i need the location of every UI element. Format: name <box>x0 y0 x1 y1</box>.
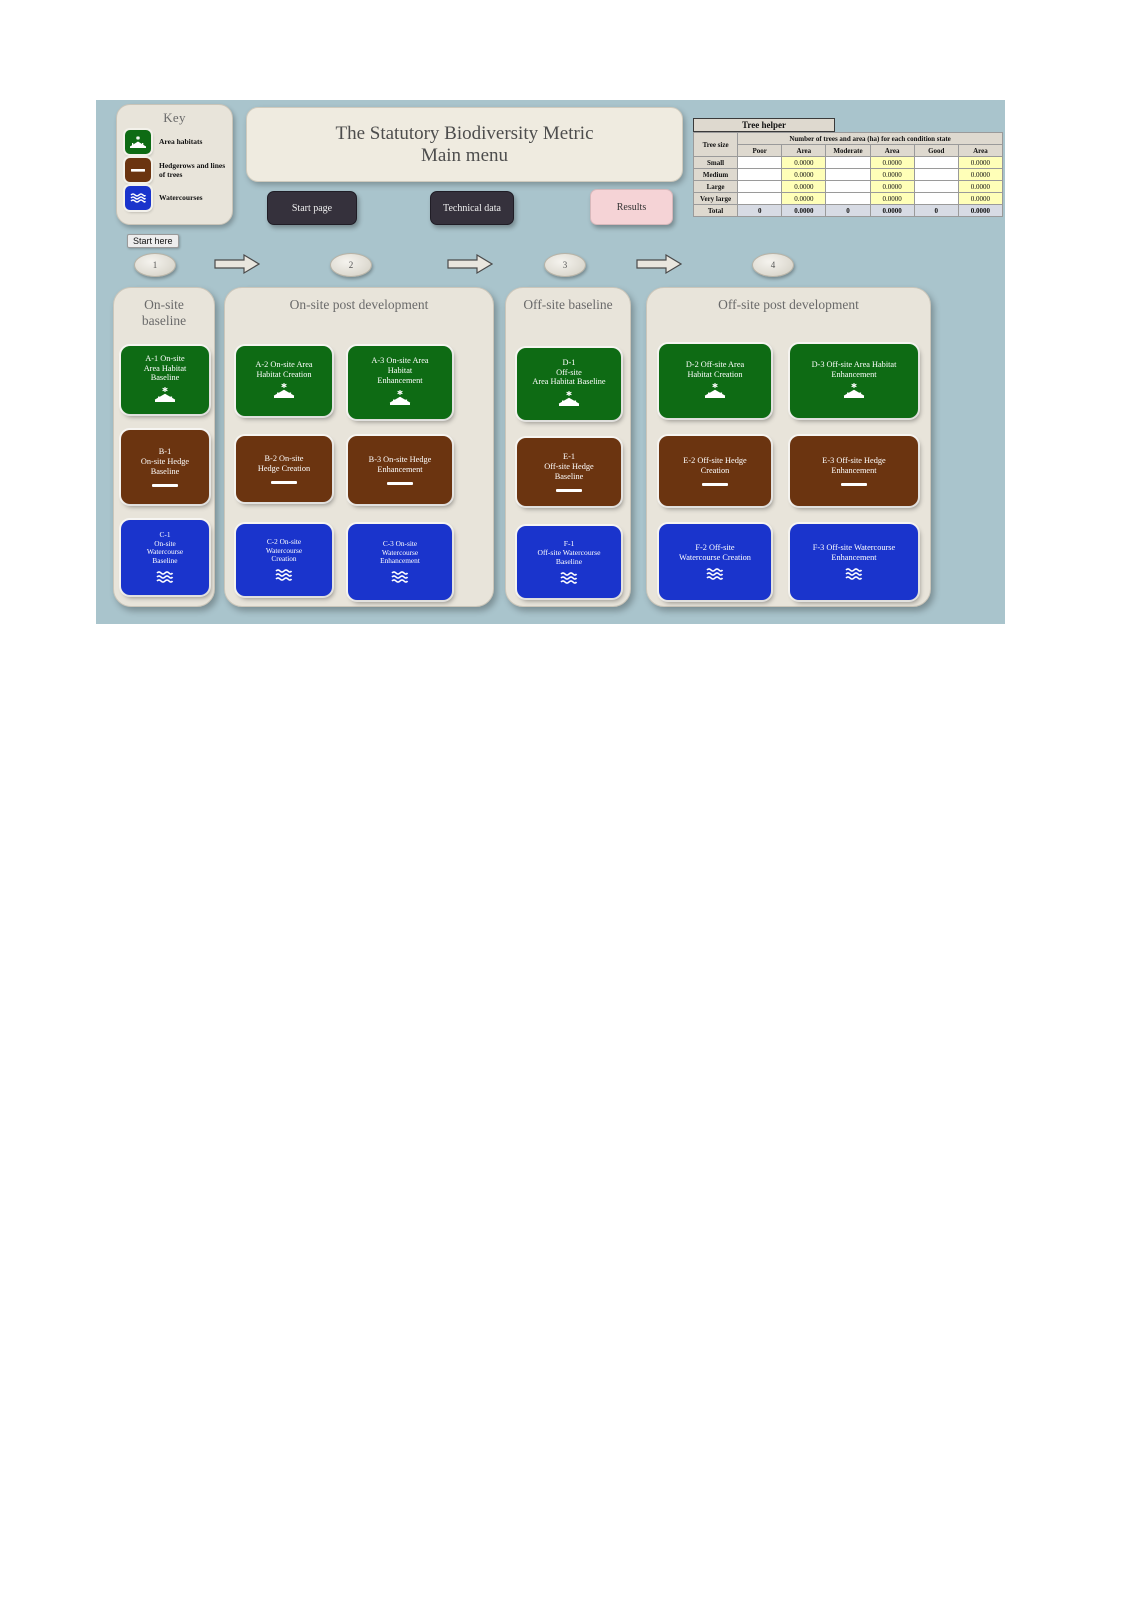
stage-title-off-site-baseline: Off-site baseline <box>506 288 630 313</box>
watercourse-icon <box>125 186 151 210</box>
module-card-c-3[interactable]: C-3 On-siteWatercourseEnhancement <box>348 524 452 600</box>
module-card-label-line: Enhancement <box>377 376 422 386</box>
table-cell[interactable] <box>738 193 782 205</box>
module-card-label-line: Off-site <box>556 368 582 378</box>
table-row: PoorAreaModerateAreaGoodArea <box>694 145 1003 157</box>
key-label-area-habitats: Area habitats <box>159 137 202 146</box>
table-cell-total: 0.0000 <box>870 205 914 217</box>
table-cell[interactable]: 0.0000 <box>958 169 1002 181</box>
module-card-label-line: D-3 Off-site Area Habitat <box>812 360 897 370</box>
stage-title-on-site-baseline: On-site baseline <box>114 288 214 328</box>
watercourse-icon <box>155 570 175 584</box>
arrow-icon-1 <box>214 253 260 275</box>
stage-title-line-2: baseline <box>114 313 214 329</box>
main-menu-canvas: Key Area habitats <box>96 100 1005 624</box>
module-card-b-3[interactable]: B-3 On-site HedgeEnhancement <box>348 436 452 504</box>
table-cell[interactable]: 0.0000 <box>958 181 1002 193</box>
module-card-label-line: D-2 Off-site Area <box>686 360 744 370</box>
module-card-label-line: B-1 <box>159 447 171 457</box>
table-cell[interactable]: 0.0000 <box>870 157 914 169</box>
table-cell[interactable]: 0.0000 <box>870 193 914 205</box>
module-card-label-line: Baseline <box>151 467 180 477</box>
watercourse-icon <box>274 568 294 582</box>
results-button[interactable]: Results <box>590 189 673 225</box>
module-card-c-1[interactable]: C-1On-siteWatercourseBaseline <box>121 520 209 595</box>
key-row-watercourses: Watercourses <box>125 186 232 210</box>
page-root: Key Area habitats <box>0 0 1131 1600</box>
table-cell[interactable]: 0.0000 <box>782 181 826 193</box>
module-card-a-3[interactable]: A-3 On-site AreaHabitatEnhancement <box>348 346 452 419</box>
arrow-icon-3 <box>636 253 682 275</box>
column-header: Area <box>782 145 826 157</box>
table-cell-total: 0 <box>914 205 958 217</box>
column-header: Good <box>914 145 958 157</box>
module-card-d-3[interactable]: D-3 Off-site Area HabitatEnhancement <box>790 344 918 418</box>
module-card-b-1[interactable]: B-1On-site HedgeBaseline <box>121 430 209 504</box>
module-card-label-line: Hedge Creation <box>258 464 310 474</box>
key-label-hedgerows: Hedgerows and lines of trees <box>159 161 232 180</box>
tree-helper-panel: Tree helper Tree sizeNumber of trees and… <box>693 118 1003 217</box>
area-habitat-icon <box>702 382 728 400</box>
row-label-total: Total <box>694 205 738 217</box>
table-cell-total: 0.0000 <box>782 205 826 217</box>
table-cell[interactable]: 0.0000 <box>782 157 826 169</box>
module-card-label-line: A-3 On-site Area <box>371 356 428 366</box>
watercourse-icon <box>844 567 864 582</box>
hedgerow-icon <box>387 482 413 485</box>
column-header: Moderate <box>826 145 870 157</box>
title-line-1: The Statutory Biodiversity Metric <box>335 123 593 145</box>
table-cell[interactable]: 0.0000 <box>782 169 826 181</box>
module-card-e-2[interactable]: E-2 Off-site HedgeCreation <box>659 436 771 506</box>
column-header: Area <box>958 145 1002 157</box>
step-circle-1: 1 <box>134 253 176 277</box>
table-cell-total: 0 <box>738 205 782 217</box>
key-panel: Key Area habitats <box>116 104 233 225</box>
stage-title-off-site-post-development: Off-site post development <box>647 288 930 313</box>
module-card-label-line: Habitat Creation <box>687 370 742 380</box>
watercourse-icon <box>705 567 725 581</box>
watercourse-icon <box>844 567 864 581</box>
module-card-label-line: F-1 <box>564 539 575 548</box>
module-card-f-3[interactable]: F-3 Off-site WatercourseEnhancement <box>790 524 918 600</box>
hedgerow-icon <box>841 483 867 486</box>
area-habitat-icon <box>556 390 582 408</box>
area-habitat-icon <box>841 382 867 402</box>
arrow-icon-2 <box>447 253 493 275</box>
module-card-label-line: Off-site Hedge <box>544 462 593 472</box>
table-row-total: Total00.000000.000000.0000 <box>694 205 1003 217</box>
module-card-label-line: Creation <box>701 466 730 476</box>
module-card-label-line: D-1 <box>563 358 576 368</box>
hedgerow-icon <box>152 484 178 487</box>
hedgerow-icon <box>556 489 582 492</box>
table-cell[interactable] <box>914 193 958 205</box>
technical-data-button[interactable]: Technical data <box>430 191 514 225</box>
start-here-tooltip: Start here <box>127 234 179 248</box>
table-cell[interactable] <box>914 169 958 181</box>
table-cell-total: 0.0000 <box>958 205 1002 217</box>
module-card-label-line: Watercourse Creation <box>679 553 751 563</box>
module-card-label-line: E-2 Off-site Hedge <box>683 456 746 466</box>
row-label: Very large <box>694 193 738 205</box>
table-row: Small0.00000.00000.0000 <box>694 157 1003 169</box>
watercourse-icon <box>155 570 175 584</box>
area-habitat-icon <box>556 390 582 410</box>
column-header: Area <box>870 145 914 157</box>
module-card-c-2[interactable]: C-2 On-siteWatercourseCreation <box>236 524 332 596</box>
table-row: Tree sizeNumber of trees and area (ha) f… <box>694 133 1003 145</box>
watercourse-icon <box>390 570 410 584</box>
table-cell[interactable] <box>826 181 870 193</box>
module-card-label-line: Baseline <box>556 557 582 566</box>
watercourse-icon <box>274 568 294 582</box>
stage-title-line-1: On-site <box>114 297 214 313</box>
start-page-button[interactable]: Start page <box>267 191 357 225</box>
module-card-e-3[interactable]: E-3 Off-site HedgeEnhancement <box>790 436 918 506</box>
module-card-label-line: Baseline <box>152 557 177 566</box>
table-cell[interactable]: 0.0000 <box>958 157 1002 169</box>
module-card-label-line: E-3 Off-site Hedge <box>822 456 885 466</box>
area-habitat-icon <box>271 382 297 400</box>
module-card-d-1[interactable]: D-1Off-siteArea Habitat Baseline <box>517 348 621 420</box>
area-habitat-icon <box>271 382 297 402</box>
table-cell[interactable] <box>914 181 958 193</box>
area-habitat-icon <box>702 382 728 402</box>
module-card-label-line: F-3 Off-site Watercourse <box>813 543 895 553</box>
module-card-label-line: Enhancement <box>380 557 420 566</box>
table-row: Medium0.00000.00000.0000 <box>694 169 1003 181</box>
module-card-a-2[interactable]: A-2 On-site AreaHabitat Creation <box>236 346 332 416</box>
module-card-a-1[interactable]: A-1 On-siteArea HabitatBaseline <box>121 346 209 414</box>
key-title: Key <box>117 105 232 126</box>
module-card-label-line: A-1 On-site <box>145 354 184 364</box>
column-header: Poor <box>738 145 782 157</box>
module-card-b-2[interactable]: B-2 On-siteHedge Creation <box>236 436 332 502</box>
area-habitat-icon <box>387 389 413 409</box>
stage-title-on-site-post-development: On-site post development <box>225 288 493 313</box>
module-card-label-line: Baseline <box>151 373 180 383</box>
table-cell[interactable]: 0.0000 <box>870 181 914 193</box>
module-card-label-line: Baseline <box>555 472 584 482</box>
module-card-label-line: Area Habitat Baseline <box>532 377 605 387</box>
watercourse-icon <box>559 571 579 585</box>
module-card-label-line: B-2 On-site <box>265 454 304 464</box>
module-card-d-2[interactable]: D-2 Off-site AreaHabitat Creation <box>659 344 771 418</box>
table-cell-total: 0 <box>826 205 870 217</box>
title-line-2: Main menu <box>421 145 508 167</box>
key-row-area-habitats: Area habitats <box>125 130 232 154</box>
module-card-label-line: Area Habitat <box>144 364 187 374</box>
table-cell[interactable]: 0.0000 <box>958 193 1002 205</box>
module-card-f-2[interactable]: F-2 Off-siteWatercourse Creation <box>659 524 771 600</box>
table-cell[interactable] <box>914 157 958 169</box>
module-card-label-line: A-2 On-site Area <box>255 360 312 370</box>
table-cell[interactable] <box>738 181 782 193</box>
hedgerow-icon <box>271 481 297 484</box>
area-habitat-icon <box>387 389 413 407</box>
tree-helper-table: Tree sizeNumber of trees and area (ha) f… <box>693 132 1003 217</box>
module-card-label-line: Habitat <box>388 366 412 376</box>
module-card-f-1[interactable]: F-1Off-site WatercourseBaseline <box>517 526 621 598</box>
table-cell[interactable] <box>826 193 870 205</box>
table-row: Very large0.00000.00000.0000 <box>694 193 1003 205</box>
area-habitat-icon <box>125 130 151 154</box>
area-habitat-icon <box>152 386 178 406</box>
module-card-label-line: Enhancement <box>831 553 876 563</box>
watercourse-icon <box>705 567 725 582</box>
module-card-e-1[interactable]: E-1Off-site HedgeBaseline <box>517 438 621 506</box>
area-habitat-icon <box>841 382 867 400</box>
module-card-label-line: E-1 <box>563 452 575 462</box>
watercourse-icon <box>390 570 410 584</box>
module-card-label-line: Enhancement <box>831 370 876 380</box>
module-card-label-line: Habitat Creation <box>256 370 311 380</box>
module-card-label-line: Creation <box>271 555 296 564</box>
row-label: Small <box>694 157 738 169</box>
hedgerow-icon <box>125 158 151 182</box>
table-cell[interactable]: 0.0000 <box>782 193 826 205</box>
module-card-label-line: On-site Hedge <box>141 457 189 467</box>
condition-span-header: Number of trees and area (ha) for each c… <box>738 133 1003 145</box>
module-card-label-line: B-3 On-site Hedge <box>369 455 432 465</box>
step-circle-4: 4 <box>752 253 794 277</box>
page-title: The Statutory Biodiversity Metric Main m… <box>246 107 683 182</box>
step-circle-3: 3 <box>544 253 586 277</box>
table-cell[interactable] <box>826 169 870 181</box>
key-label-watercourses: Watercourses <box>159 193 203 202</box>
table-row: Large0.00000.00000.0000 <box>694 181 1003 193</box>
module-card-label-line: Enhancement <box>831 466 876 476</box>
table-cell[interactable]: 0.0000 <box>870 169 914 181</box>
watercourse-icon <box>559 571 579 585</box>
row-label: Large <box>694 181 738 193</box>
area-habitat-icon <box>152 386 178 404</box>
tree-helper-title: Tree helper <box>693 118 835 132</box>
table-cell[interactable] <box>826 157 870 169</box>
table-cell[interactable] <box>738 157 782 169</box>
row-label: Medium <box>694 169 738 181</box>
tree-size-header: Tree size <box>694 133 738 157</box>
module-card-label-line: F-2 Off-site <box>695 543 734 553</box>
table-cell[interactable] <box>738 169 782 181</box>
step-circle-2: 2 <box>330 253 372 277</box>
module-card-label-line: Off-site Watercourse <box>538 548 601 557</box>
key-row-hedgerows: Hedgerows and lines of trees <box>125 158 232 182</box>
module-card-label-line: Enhancement <box>377 465 422 475</box>
hedgerow-icon <box>702 483 728 486</box>
